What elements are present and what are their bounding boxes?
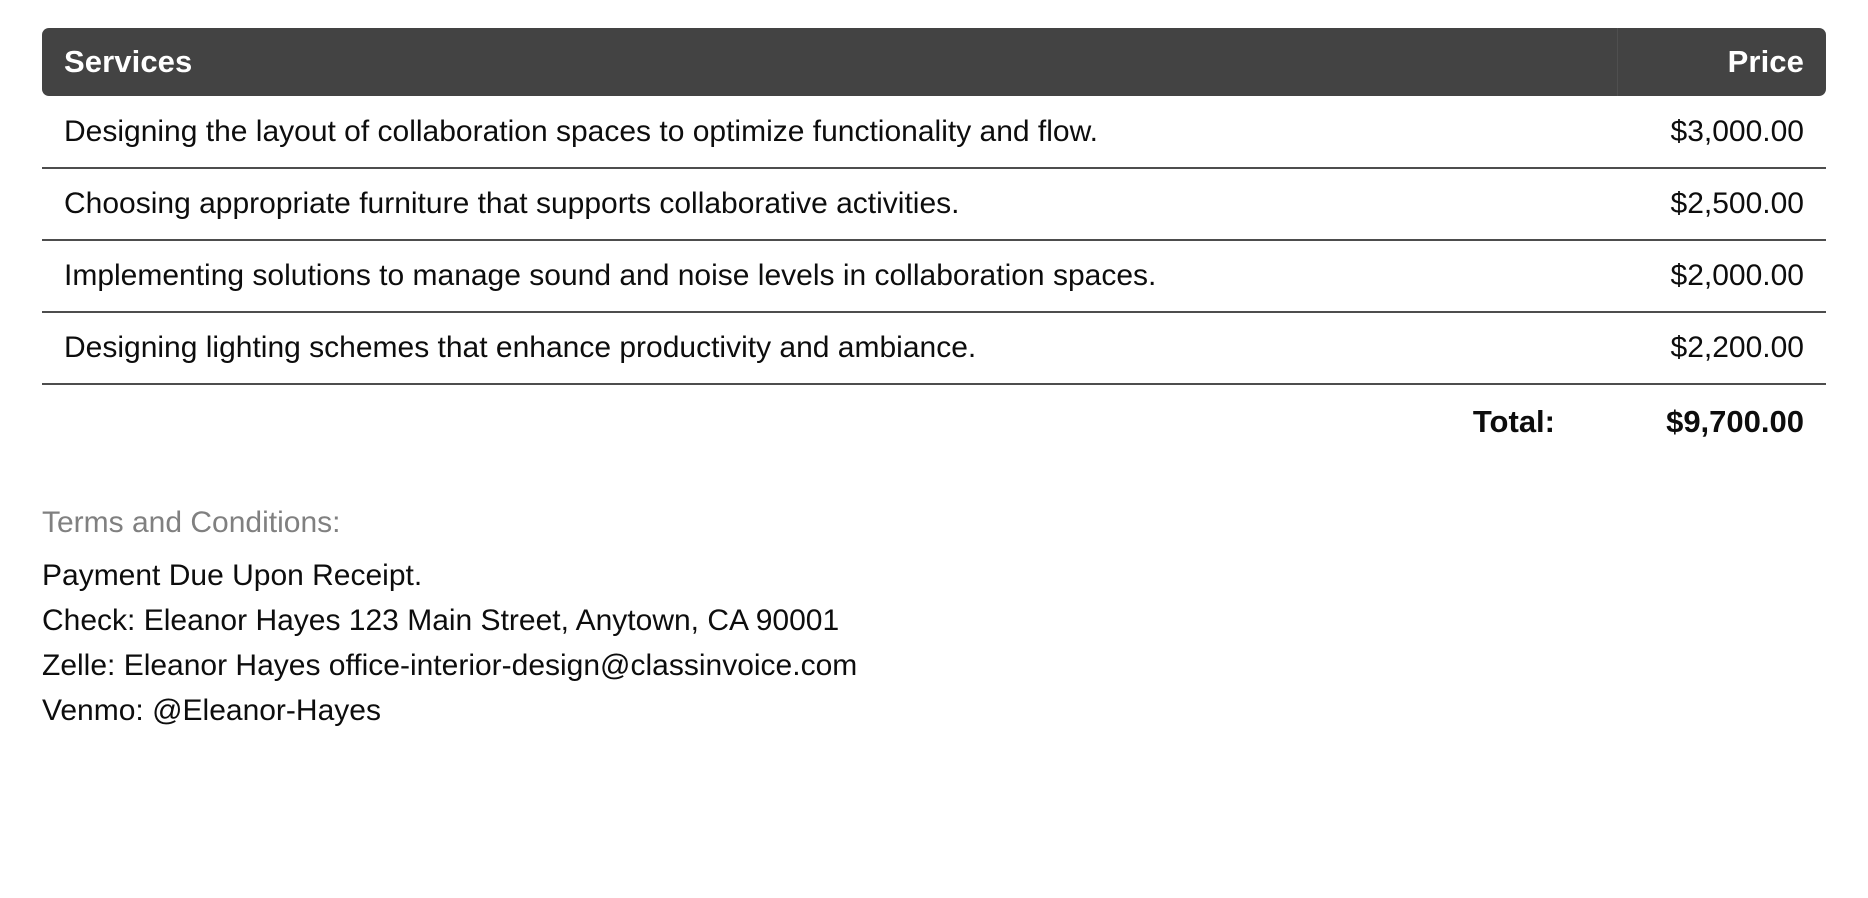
service-description: Choosing appropriate furniture that supp… [42, 168, 1617, 240]
service-description: Designing the layout of collaboration sp… [42, 96, 1617, 168]
terms-line-payment-due: Payment Due Upon Receipt. [42, 553, 1826, 598]
terms-line-zelle: Zelle: Eleanor Hayes office-interior-des… [42, 643, 1826, 688]
service-price: $2,200.00 [1617, 312, 1826, 384]
table-row: Choosing appropriate furniture that supp… [42, 168, 1826, 240]
service-price: $2,000.00 [1617, 240, 1826, 312]
table-row: Designing lighting schemes that enhance … [42, 312, 1826, 384]
table-header: Services Price [42, 28, 1826, 96]
service-description: Designing lighting schemes that enhance … [42, 312, 1617, 384]
terms-line-venmo: Venmo: @Eleanor-Hayes [42, 688, 1826, 733]
table-row: Designing the layout of collaboration sp… [42, 96, 1826, 168]
total-label: Total: [42, 384, 1617, 458]
service-description: Implementing solutions to manage sound a… [42, 240, 1617, 312]
total-row: Total: $9,700.00 [42, 384, 1826, 458]
column-header-price: Price [1617, 28, 1826, 96]
invoice-services-sheet: Services Price Designing the layout of c… [0, 28, 1868, 898]
services-price-table: Services Price Designing the layout of c… [42, 28, 1826, 458]
table-header-row: Services Price [42, 28, 1826, 96]
terms-heading: Terms and Conditions: [42, 508, 1826, 538]
terms-and-conditions-section: Terms and Conditions: Payment Due Upon R… [42, 508, 1826, 733]
service-price: $2,500.00 [1617, 168, 1826, 240]
service-price: $3,000.00 [1617, 96, 1826, 168]
total-amount: $9,700.00 [1617, 384, 1826, 458]
column-header-services: Services [42, 28, 1617, 96]
table-row: Implementing solutions to manage sound a… [42, 240, 1826, 312]
table-body: Designing the layout of collaboration sp… [42, 96, 1826, 458]
terms-line-check: Check: Eleanor Hayes 123 Main Street, An… [42, 598, 1826, 643]
